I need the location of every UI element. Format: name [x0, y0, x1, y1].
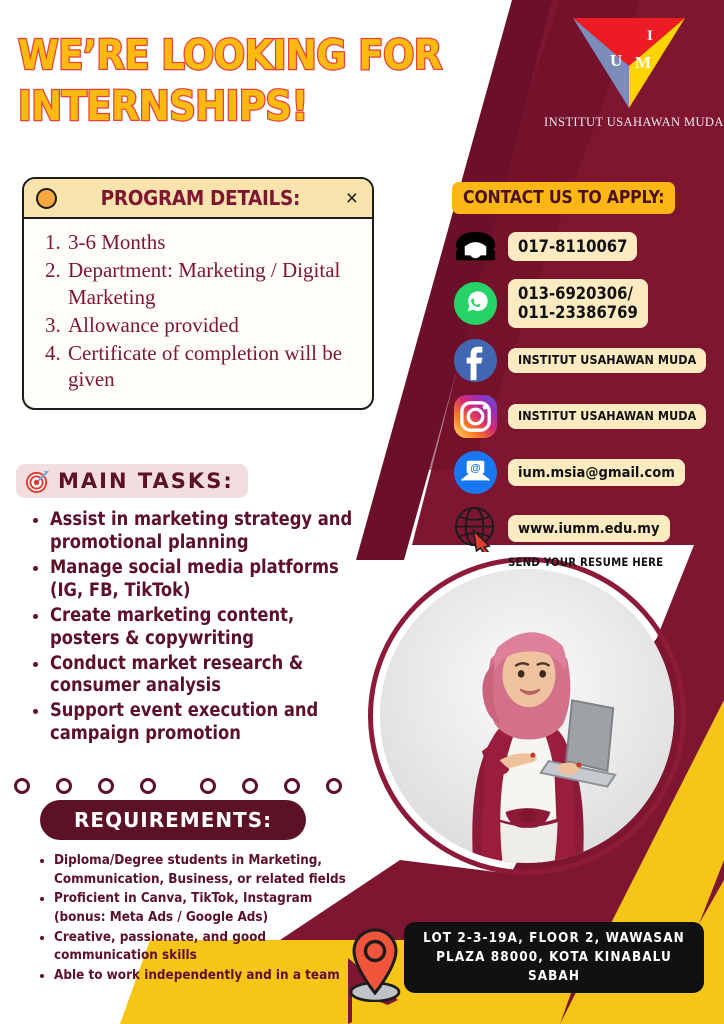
- contact-section: CONTACT US TO APPLY: 017-8110067 013-692…: [452, 182, 714, 569]
- program-details-window: PROGRAM DETAILS: × 3-6 Months Department…: [22, 177, 374, 410]
- facebook-icon: [452, 337, 499, 384]
- contact-row-instagram[interactable]: INSTITUT USAHAWAN MUDA: [452, 393, 714, 440]
- poster-root: WE’RE LOOKING FOR INTERNSHIPS! I U M INS…: [0, 0, 724, 1024]
- instagram-icon: [452, 393, 499, 440]
- main-tasks-section: MAIN TASKS: Assist in marketing strategy…: [16, 464, 366, 748]
- page-title: WE’RE LOOKING FOR INTERNSHIPS!: [18, 30, 488, 132]
- address-line-2: PLAZA 88000, KOTA KINABALU: [416, 948, 692, 967]
- facebook-handle: INSTITUT USAHAWAN MUDA: [508, 348, 706, 373]
- instagram-handle: INSTITUT USAHAWAN MUDA: [508, 404, 706, 429]
- avatar: [380, 569, 674, 863]
- website-url: www.iumm.edu.my: [508, 515, 670, 542]
- svg-text:M: M: [635, 53, 651, 72]
- ring-icon: [14, 778, 30, 794]
- ring-icon: [200, 778, 216, 794]
- phone-number: 017-8110067: [508, 232, 637, 261]
- main-tasks-list: Assist in marketing strategy and promoti…: [16, 509, 366, 746]
- address-line-3: SABAH: [416, 967, 692, 986]
- list-item: Diploma/Degree students in Marketing, Co…: [54, 852, 366, 889]
- ring-icon: [140, 778, 156, 794]
- close-icon[interactable]: ×: [344, 188, 360, 209]
- headline-line-2: INTERNSHIPS!: [18, 81, 488, 132]
- ring-icon: [98, 778, 114, 794]
- address-pill: LOT 2-3-19A, FLOOR 2, WAWASAN PLAZA 8800…: [404, 922, 704, 993]
- ring-group-right: [200, 778, 342, 794]
- requirements-heading: REQUIREMENTS:: [40, 800, 306, 840]
- program-details-body: 3-6 Months Department: Marketing / Digit…: [24, 219, 372, 408]
- whatsapp-icon: [452, 280, 499, 327]
- ring-icon: [284, 778, 300, 794]
- brand-logo: I U M INSTITUT USAHAWAN MUDA: [544, 14, 714, 130]
- list-item: Department: Marketing / Digital Marketin…: [66, 257, 358, 311]
- list-item: Assist in marketing strategy and promoti…: [50, 509, 366, 555]
- decorative-rings: [14, 778, 342, 794]
- ring-icon: [242, 778, 258, 794]
- intern-photo-illustration: [380, 569, 674, 863]
- target-icon: [26, 470, 49, 493]
- main-tasks-badge: MAIN TASKS:: [16, 464, 248, 498]
- list-item: Allowance provided: [66, 312, 358, 339]
- address-line-1: LOT 2-3-19A, FLOOR 2, WAWASAN: [416, 929, 692, 948]
- requirements-section: REQUIREMENTS: Diploma/Degree students in…: [16, 800, 366, 986]
- ring-icon: [56, 778, 72, 794]
- list-item: 3-6 Months: [66, 229, 358, 256]
- resume-note: SEND YOUR RESUME HERE: [508, 556, 714, 569]
- list-item: Create marketing content, posters & copy…: [50, 605, 366, 651]
- program-details-title: PROGRAM DETAILS:: [67, 186, 334, 210]
- list-item: Manage social media platforms (IG, FB, T…: [50, 557, 366, 603]
- ium-triangle-icon: I U M: [569, 14, 689, 112]
- program-details-list: 3-6 Months Department: Marketing / Digit…: [42, 229, 358, 393]
- svg-text:U: U: [610, 51, 622, 70]
- website-icon: [452, 505, 499, 552]
- photo-frame: [368, 557, 686, 875]
- window-dot-icon: [36, 188, 57, 209]
- address-block: LOT 2-3-19A, FLOOR 2, WAWASAN PLAZA 8800…: [404, 922, 704, 993]
- contact-row-website[interactable]: www.iumm.edu.my: [452, 505, 714, 552]
- whatsapp-numbers: 013-6920306/ 011-23386769: [508, 279, 648, 328]
- list-item: Support event execution and campaign pro…: [50, 700, 366, 746]
- map-pin-icon: [342, 926, 408, 1002]
- svg-text:I: I: [647, 28, 653, 44]
- contact-row-email[interactable]: @ ium.msia@gmail.com: [452, 449, 714, 496]
- window-titlebar: PROGRAM DETAILS: ×: [24, 179, 372, 219]
- email-address: ium.msia@gmail.com: [508, 459, 685, 486]
- list-item: Certificate of completion will be given: [66, 340, 358, 394]
- contact-heading: CONTACT US TO APPLY:: [452, 182, 675, 214]
- brand-name: INSTITUT USAHAWAN MUDA: [544, 115, 714, 130]
- headline-line-1: WE’RE LOOKING FOR: [18, 30, 488, 81]
- contact-row-whatsapp[interactable]: 013-6920306/ 011-23386769: [452, 279, 714, 328]
- list-item: Proficient in Canva, TikTok, Instagram (…: [54, 890, 366, 927]
- contact-row-phone[interactable]: 017-8110067: [452, 223, 714, 270]
- svg-text:@: @: [470, 462, 481, 474]
- main-tasks-heading: MAIN TASKS:: [58, 469, 234, 493]
- list-item: Able to work independently and in a team: [54, 967, 366, 986]
- ring-group-left: [14, 778, 156, 794]
- requirements-list: Diploma/Degree students in Marketing, Co…: [16, 852, 366, 985]
- list-item: Creative, passionate, and good communica…: [54, 929, 366, 966]
- telephone-icon: [452, 223, 499, 270]
- email-icon: @: [452, 449, 499, 496]
- ring-icon: [326, 778, 342, 794]
- contact-row-facebook[interactable]: INSTITUT USAHAWAN MUDA: [452, 337, 714, 384]
- list-item: Conduct market research & consumer analy…: [50, 653, 366, 699]
